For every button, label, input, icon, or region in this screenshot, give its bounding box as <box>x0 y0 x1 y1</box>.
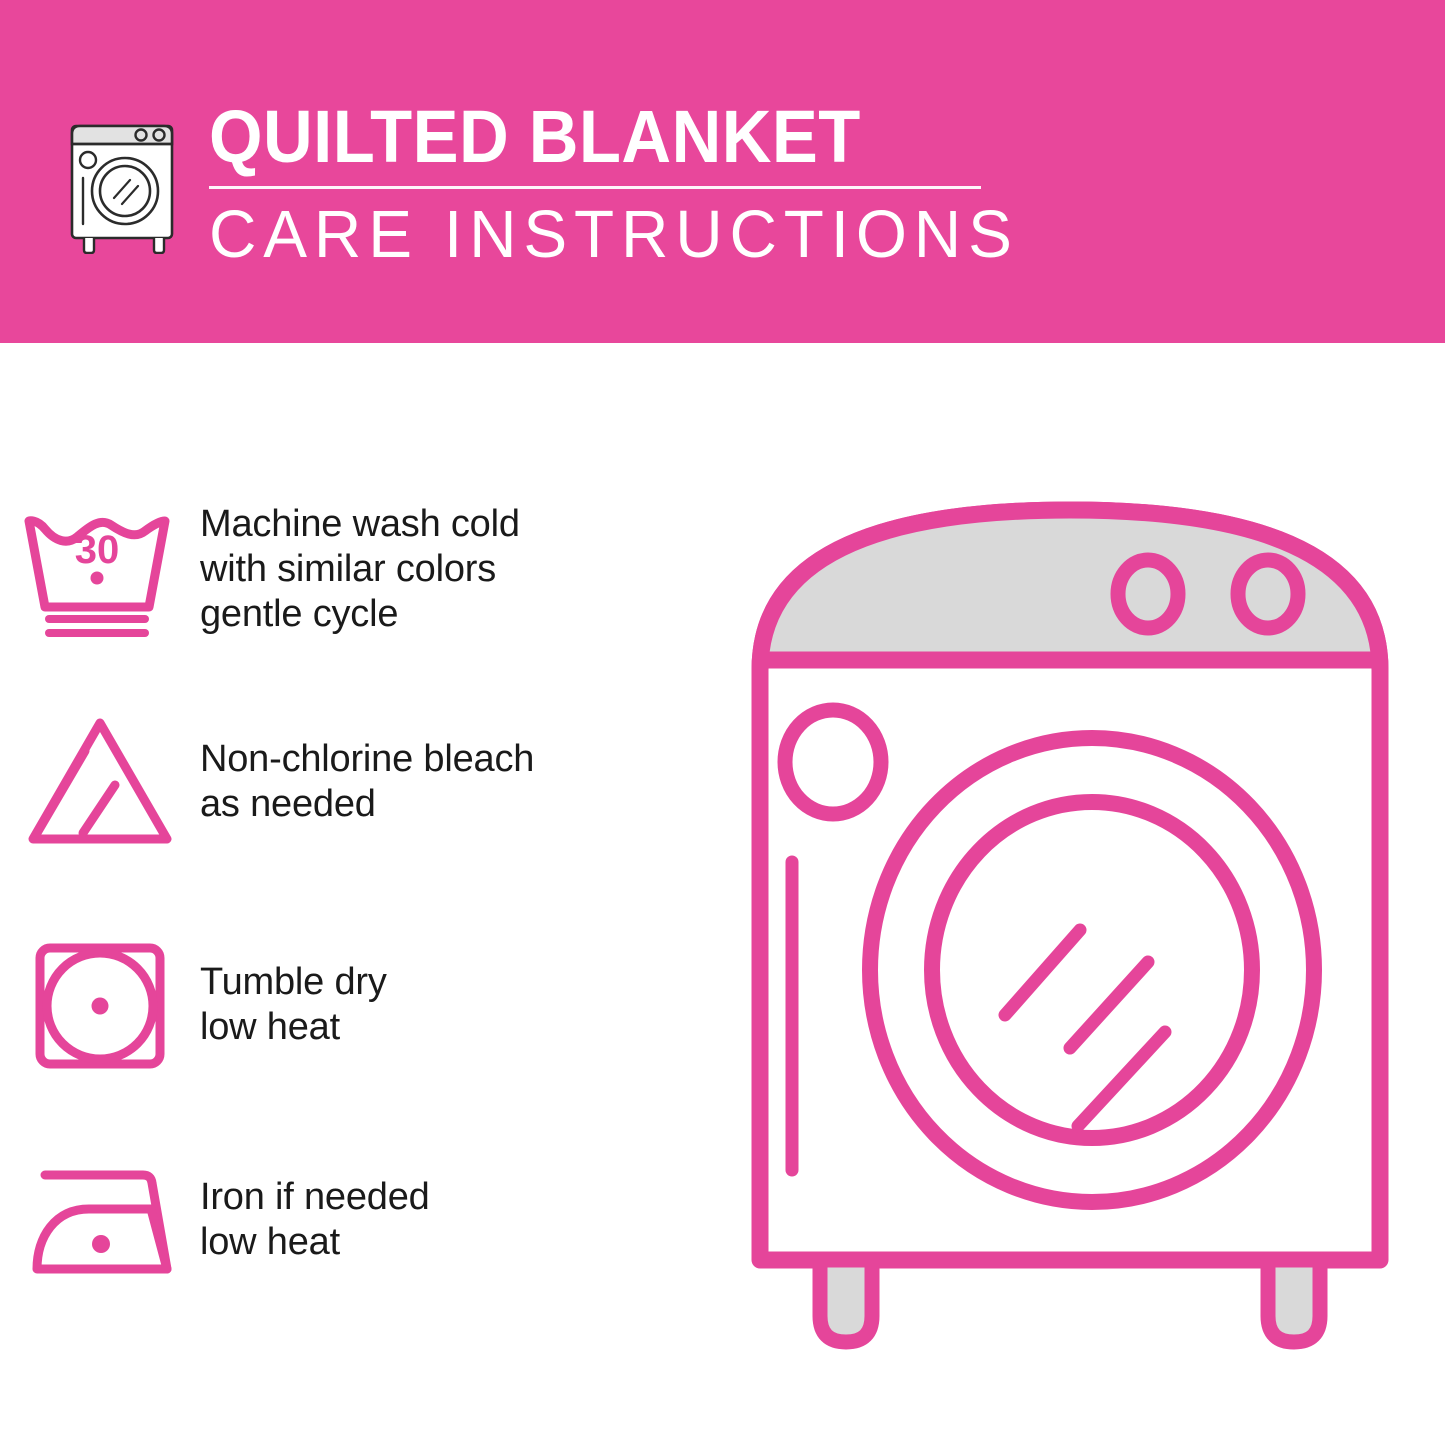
page-subtitle: CARE INSTRUCTIONS <box>209 198 1019 272</box>
care-instructions-infographic: QUILTED BLANKET CARE INSTRUCTIONS 30 <box>0 0 1445 1445</box>
page-title: QUILTED BLANKET <box>209 98 977 176</box>
care-text-tumble-dry: Tumble dry low heat <box>200 960 700 1050</box>
header-title-block: QUILTED BLANKET CARE INSTRUCTIONS <box>209 98 1035 272</box>
non-chlorine-bleach-triangle-icon <box>0 707 200 857</box>
care-line: low heat <box>200 1005 700 1050</box>
care-row-tumble-dry: Tumble dry low heat <box>0 925 700 1085</box>
iron-low-heat-icon <box>0 1145 200 1295</box>
front-load-washing-machine-illustration <box>720 470 1420 1370</box>
care-line: Non-chlorine bleach <box>200 737 700 782</box>
care-line: low heat <box>200 1220 700 1265</box>
care-line: gentle cycle <box>200 592 700 637</box>
care-text-bleach: Non-chlorine bleach as needed <box>200 737 700 827</box>
care-row-iron: Iron if needed low heat <box>0 1140 700 1300</box>
care-line: as needed <box>200 782 700 827</box>
care-line: Machine wash cold <box>200 502 700 547</box>
washing-machine-icon <box>62 104 187 254</box>
care-row-bleach: Non-chlorine bleach as needed <box>0 702 700 862</box>
header-banner: QUILTED BLANKET CARE INSTRUCTIONS <box>0 0 1445 343</box>
care-line: Tumble dry <box>200 960 700 1005</box>
care-row-machine-wash: 30 Machine wash cold with similar colors… <box>0 482 700 657</box>
title-divider <box>209 186 981 189</box>
care-line: Iron if needed <box>200 1175 700 1220</box>
care-line: with similar colors <box>200 547 700 592</box>
care-text-machine-wash: Machine wash cold with similar colors ge… <box>200 502 700 637</box>
tumble-dry-low-heat-icon <box>0 930 200 1080</box>
header-content: QUILTED BLANKET CARE INSTRUCTIONS <box>62 98 1035 272</box>
wash-temp-value: 30 <box>75 528 120 572</box>
wash-tub-30-gentle-icon: 30 <box>0 495 200 645</box>
care-text-iron: Iron if needed low heat <box>200 1175 700 1265</box>
